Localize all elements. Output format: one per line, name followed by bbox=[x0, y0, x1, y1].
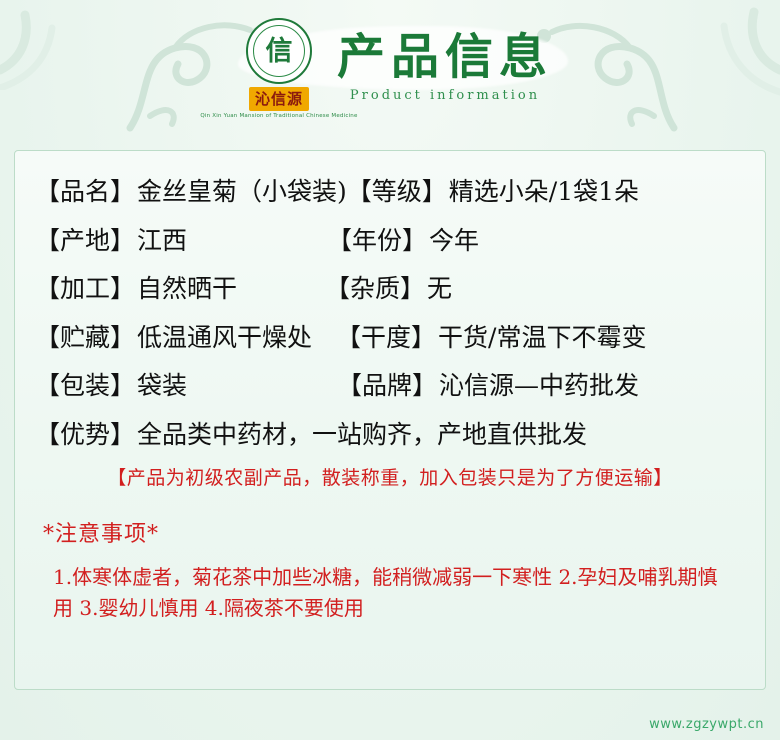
info-row: 【贮藏】 低温通风干燥处 【干度】 干货/常温下不霉变 bbox=[35, 323, 745, 353]
logo-brand-name: 沁信源 bbox=[249, 87, 309, 111]
info-label: 【包装】 bbox=[35, 371, 135, 401]
info-value: 低温通风干燥处 bbox=[137, 323, 312, 353]
info-row-advantage: 【优势】 全品类中药材，一站购齐，产地直供批发 bbox=[35, 420, 745, 450]
info-label: 【产地】 bbox=[35, 226, 135, 256]
info-value: 沁信源—中药批发 bbox=[439, 371, 639, 401]
info-label: 【等级】 bbox=[347, 177, 447, 207]
logo-seal-icon: 信 bbox=[246, 18, 312, 84]
logo-glyph: 信 bbox=[265, 38, 292, 65]
info-value: 袋装 bbox=[137, 371, 187, 401]
page-title: 产品信息 bbox=[337, 32, 553, 82]
info-label: 【品牌】 bbox=[337, 371, 437, 401]
info-value: 自然晒干 bbox=[137, 274, 237, 304]
info-row: 【加工】 自然晒干 【杂质】 无 bbox=[35, 274, 745, 304]
product-info-card: 【品名】 金丝皇菊（小袋装) 【等级】 精选小朵/1袋1朵 【产地】 江西 【年… bbox=[14, 150, 766, 690]
info-row: 【包装】 袋装 【品牌】 沁信源—中药批发 bbox=[35, 371, 745, 401]
info-value: 金丝皇菊（小袋装) bbox=[137, 177, 347, 207]
product-info-rows: 【品名】 金丝皇菊（小袋装) 【等级】 精选小朵/1袋1朵 【产地】 江西 【年… bbox=[35, 177, 745, 624]
info-label: 【杂质】 bbox=[325, 274, 425, 304]
info-row: 【品名】 金丝皇菊（小袋装) 【等级】 精选小朵/1袋1朵 bbox=[35, 177, 745, 207]
page-header: 信 沁信源 Qin Xin Yuan Mansion of Traditiona… bbox=[0, 0, 780, 146]
info-value: 精选小朵/1袋1朵 bbox=[449, 177, 639, 207]
info-label: 【贮藏】 bbox=[35, 323, 135, 353]
info-label: 【优势】 bbox=[35, 420, 135, 450]
packaging-note: 【产品为初级农副产品，散装称重，加入包装只是为了方便运输】 bbox=[35, 463, 745, 490]
info-label: 【年份】 bbox=[327, 226, 427, 256]
attention-tips: 1.体寒体虚者，菊花茶中加些冰糖，能稍微减弱一下寒性 2.孕妇及哺乳期慎用 3.… bbox=[53, 562, 735, 624]
info-row: 【产地】 江西 【年份】 今年 bbox=[35, 226, 745, 256]
info-value: 今年 bbox=[429, 226, 479, 256]
brand-logo: 信 沁信源 Qin Xin Yuan Mansion of Traditiona… bbox=[227, 18, 331, 122]
title-block: 产品信息 Product information bbox=[337, 18, 553, 103]
attention-title: *注意事项* bbox=[43, 516, 745, 548]
page-title-english: Product information bbox=[337, 88, 553, 103]
info-label: 【干度】 bbox=[336, 323, 436, 353]
info-label: 【加工】 bbox=[35, 274, 135, 304]
info-value: 干货/常温下不霉变 bbox=[438, 323, 646, 353]
watermark: www.zgzywpt.cn bbox=[649, 717, 764, 732]
info-label: 【品名】 bbox=[35, 177, 135, 207]
info-value: 全品类中药材，一站购齐，产地直供批发 bbox=[137, 420, 587, 450]
info-value: 无 bbox=[427, 274, 452, 304]
logo-brand-subtitle: Qin Xin Yuan Mansion of Traditional Chin… bbox=[200, 113, 357, 119]
product-info-page: 信 沁信源 Qin Xin Yuan Mansion of Traditiona… bbox=[0, 0, 780, 740]
info-value: 江西 bbox=[137, 226, 187, 256]
